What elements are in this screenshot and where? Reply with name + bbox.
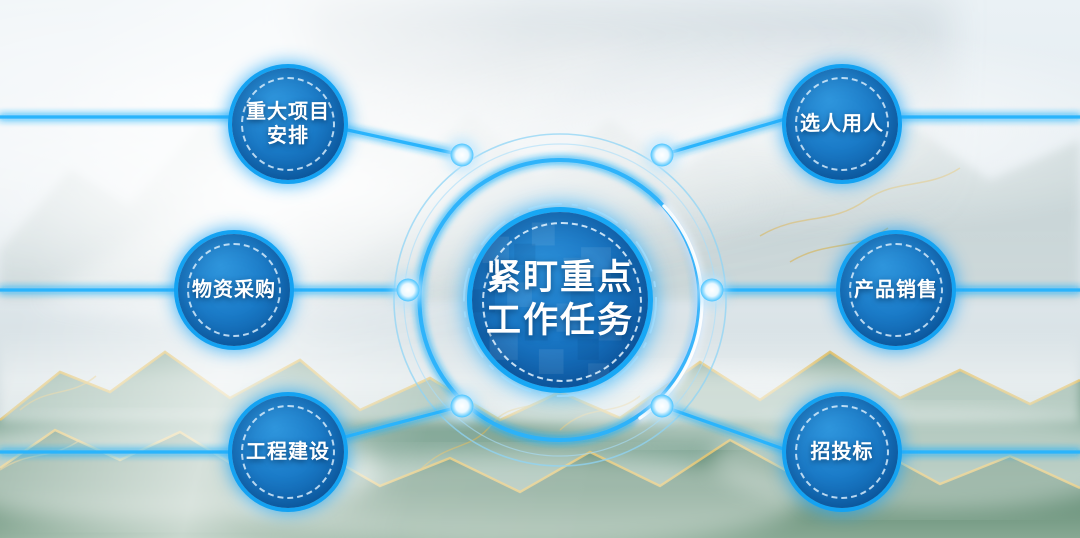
center-title-line-2: 工作任务 (486, 300, 634, 343)
node-label: 选人用人 (786, 68, 898, 180)
node-label-line-1: 工程建设 (246, 440, 330, 464)
node-product-sales[interactable]: 产品销售 (840, 234, 952, 346)
node-label-line-1: 物资采购 (192, 278, 276, 302)
center-title-line-1: 紧盯重点 (486, 257, 634, 300)
node-label-line-1: 重大项目 (246, 100, 330, 124)
junction-dot-top-right (651, 144, 674, 167)
node-label: 工程建设 (232, 396, 344, 508)
node-label-line-1: 选人用人 (800, 112, 884, 136)
junction-dot-middle-left (397, 279, 420, 302)
node-label: 产品销售 (840, 234, 952, 346)
node-label-line-1: 招投标 (811, 440, 874, 464)
node-engineering-construction[interactable]: 工程建设 (232, 396, 344, 508)
infographic-canvas: 紧盯重点 工作任务 重大项目 安排 物资采购 工程建设 选人用人 (0, 0, 1080, 538)
junction-dot-top-left (451, 144, 474, 167)
node-bidding-and-tendering[interactable]: 招投标 (786, 396, 898, 508)
node-major-project-arrangement[interactable]: 重大项目 安排 (232, 68, 344, 180)
node-label-line-2: 安排 (267, 124, 309, 148)
node-personnel-selection[interactable]: 选人用人 (786, 68, 898, 180)
node-label: 物资采购 (178, 234, 290, 346)
center-hub-title: 紧盯重点 工作任务 (450, 190, 670, 410)
node-label-line-1: 产品销售 (854, 278, 938, 302)
junction-dot-middle-right (701, 279, 724, 302)
node-label: 重大项目 安排 (232, 68, 344, 180)
node-material-procurement[interactable]: 物资采购 (178, 234, 290, 346)
center-hub[interactable]: 紧盯重点 工作任务 (450, 190, 670, 410)
node-label: 招投标 (786, 396, 898, 508)
